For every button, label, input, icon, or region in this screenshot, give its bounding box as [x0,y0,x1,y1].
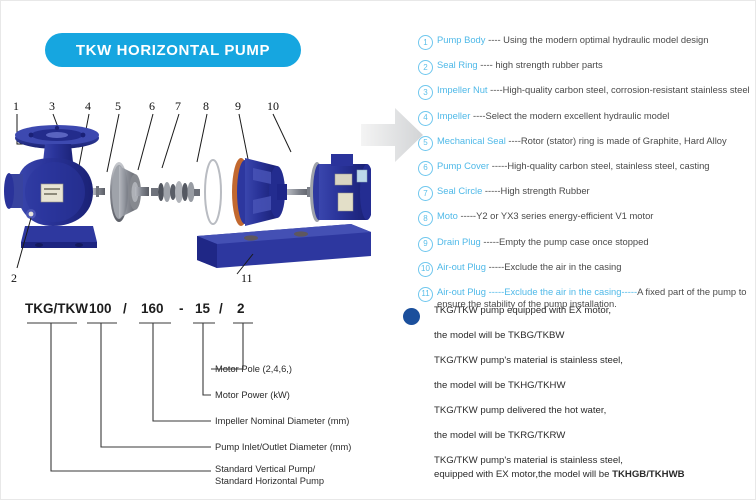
legend-item-desc: High-quality carbon steel, stainless ste… [507,160,709,171]
part-seal-circle [205,160,221,224]
legend-number-icon: 1 [418,35,433,50]
note-line-2: the model will be TKBG/TKBW [434,330,753,342]
legend-item-text: Impeller Nut ----High-quality carbon ste… [437,84,750,96]
note-line-3: TKG/TKW pump's material is stainless ste… [434,355,753,367]
code-seg-impeller: 160 [141,301,164,316]
part-impeller [110,162,149,222]
legend-item-name: Impeller [437,110,470,121]
legend-item-desc: Using the modern optimal hydraulic model… [503,34,708,45]
code-seg-prefix: TKG/TKW [25,301,88,316]
legend-item-dash: ---- [478,59,496,70]
code-seg-dash: - [179,301,184,316]
legend-item-text: Mechanical Seal ----Rotor (stator) ring … [437,135,727,147]
legend-item-10: 10 Air-out Plug -----Exclude the air in … [418,261,754,277]
model-naming-notes: TKG/TKW pump equipped with EX motor, the… [403,305,753,494]
legend-number-icon: 5 [418,136,433,151]
legend-item-blue-extra: Exclude the air in the casing----- [504,286,637,297]
legend-item-5: 5 Mechanical Seal ----Rotor (stator) rin… [418,135,754,151]
legend-number-icon: 11 [418,287,433,302]
code-seg-slash2: / [219,301,223,316]
legend-item-desc: high strength rubber parts [495,59,602,70]
legend-item-2: 2 Seal Ring ---- high strength rubber pa… [418,59,754,75]
model-code-breakdown: TKG/TKW 100 / 160 - 15 / 2 [1,297,401,497]
note-line-1: TKG/TKW pump equipped with EX motor, [434,305,753,317]
model-code-string: TKG/TKW 100 / 160 - 15 / 2 [25,301,245,316]
legend-item-name: Seal Ring [437,59,478,70]
callout-3: 3 [49,99,55,113]
legend-number-icon: 2 [418,60,433,75]
code-seg-power: 15 [195,301,211,316]
legend-item-dash: ---- [470,110,485,121]
legend-item-name: Air-out Plug [437,261,486,272]
legend-item-text: Pump Body ---- Using the modern optimal … [437,34,709,46]
code-seg-pole: 2 [237,301,245,316]
note-line-8-model: TKHGB/TKHWB [612,469,684,480]
legend-item-name: Moto [437,210,458,221]
legend-item-dash: ---- [485,34,503,45]
callout-4: 4 [85,99,91,113]
label-standard-vertical: Standard Vertical Pump/ [215,464,316,474]
legend-item-dash: ---- [506,135,521,146]
page-root: TKW HORIZONTAL PUMP [0,0,756,500]
legend-item-name: Pump Body [437,34,485,45]
bullet-dot-icon [403,308,420,325]
callout-5: 5 [115,99,121,113]
callout-number-group-bottom: 2 11 [11,271,253,285]
legend-number-icon: 7 [418,186,433,201]
part-impeller-nut [93,186,105,197]
legend-number-icon: 10 [418,262,433,277]
label-standard-horizontal: Standard Horizontal Pump [215,476,324,486]
legend-item-name: Drain Plug [437,236,481,247]
legend-item-dash: ---- [488,84,503,95]
legend-item-text: Drain Plug -----Empty the pump case once… [437,236,649,248]
legend-number-icon: 4 [418,111,433,126]
page-title-banner: TKW HORIZONTAL PUMP [45,33,301,67]
legend-item-text: Impeller ----Select the modern excellent… [437,110,669,122]
callout-10: 10 [267,99,279,113]
legend-item-name: Seal Circle [437,185,482,196]
legend-item-desc: Select the modern excellent hydraulic mo… [485,110,669,121]
note-line-8-text: equipped with EX motor,the model will be [434,469,612,480]
part-pump-cover [232,158,287,226]
callout-number-group-top: 1 3 4 5 6 7 8 9 10 [13,99,279,113]
legend-item-dash: ----- [458,210,476,221]
legend-item-dash: ----- [481,236,499,247]
part-mechanical-seal [151,181,200,203]
legend-item-name: Impeller Nut [437,84,488,95]
legend-item-dash: ----- [489,160,507,171]
parts-legend-list: 1 Pump Body ---- Using the modern optima… [418,34,754,319]
legend-item-dash: ----- [486,286,504,297]
legend-item-4: 4 Impeller ----Select the modern excelle… [418,110,754,126]
legend-item-desc: Y2 or YX3 series energy-efficient V1 mot… [476,210,653,221]
note-line-7: TKG/TKW pump's material is stainless ste… [434,455,753,467]
legend-item-1: 1 Pump Body ---- Using the modern optima… [418,34,754,50]
pump-exploded-diagram: 1 3 4 5 6 7 8 9 10 [1,96,371,286]
legend-item-text: Air-out Plug -----Exclude the air in the… [437,261,621,273]
callout-7: 7 [175,99,181,113]
legend-number-icon: 3 [418,85,433,100]
label-motor-pole: Motor Pole (2,4,6,) [215,364,292,374]
legend-item-text: Pump Cover -----High-quality carbon stee… [437,160,710,172]
legend-number-icon: 6 [418,161,433,176]
legend-item-name: Pump Cover [437,160,489,171]
legend-item-desc: Exclude the air in the casing [504,261,621,272]
legend-number-icon: 9 [418,237,433,252]
legend-number-icon: 8 [418,211,433,226]
note-line-6: the model will be TKRG/TKRW [434,430,753,442]
callout-6: 6 [149,99,155,113]
flow-arrow-icon [359,104,425,166]
label-impeller-diameter: Impeller Nominal Diameter (mm) [215,416,349,426]
part-pump-body [4,125,99,248]
note-line-8: equipped with EX motor,the model will be… [434,469,753,481]
legend-item-name: Air-out Plug [437,286,486,297]
label-motor-power: Motor Power (kW) [215,390,290,400]
legend-item-dash: ----- [486,261,504,272]
code-seg-inlet: 100 [89,301,112,316]
legend-item-9: 9 Drain Plug -----Empty the pump case on… [418,236,754,252]
callout-8: 8 [203,99,209,113]
legend-item-name: Mechanical Seal [437,135,506,146]
legend-item-8: 8 Moto -----Y2 or YX3 series energy-effi… [418,210,754,226]
legend-item-desc: High strength Rubber [501,185,590,196]
legend-item-text: Seal Circle -----High strength Rubber [437,185,590,197]
callout-9: 9 [235,99,241,113]
legend-item-6: 6 Pump Cover -----High-quality carbon st… [418,160,754,176]
note-line-5: TKG/TKW pump delivered the hot water, [434,405,753,417]
part-base-plate [197,224,371,268]
code-labels: Motor Pole (2,4,6,) Motor Power (kW) Imp… [215,364,351,486]
page-title: TKW HORIZONTAL PUMP [76,42,270,59]
legend-item-text: Moto -----Y2 or YX3 series energy-effici… [437,210,653,222]
legend-item-dash: ----- [482,185,500,196]
code-seg-slash1: / [123,301,127,316]
callout-11: 11 [241,271,253,285]
legend-item-desc: Rotor (stator) ring is made of Graphite,… [521,135,727,146]
legend-item-7: 7 Seal Circle -----High strength Rubber [418,185,754,201]
callout-2: 2 [11,271,17,285]
legend-item-desc: High-quality carbon steel, corrosion-res… [503,84,750,95]
note-line-4: the model will be TKHG/TKHW [434,380,753,392]
legend-item-3: 3 Impeller Nut ----High-quality carbon s… [418,84,754,100]
label-inlet-diameter: Pump Inlet/Outlet Diameter (mm) [215,442,351,452]
legend-item-desc: Empty the pump case once stopped [499,236,649,247]
callout-1: 1 [13,99,19,113]
legend-item-text: Seal Ring ---- high strength rubber part… [437,59,603,71]
